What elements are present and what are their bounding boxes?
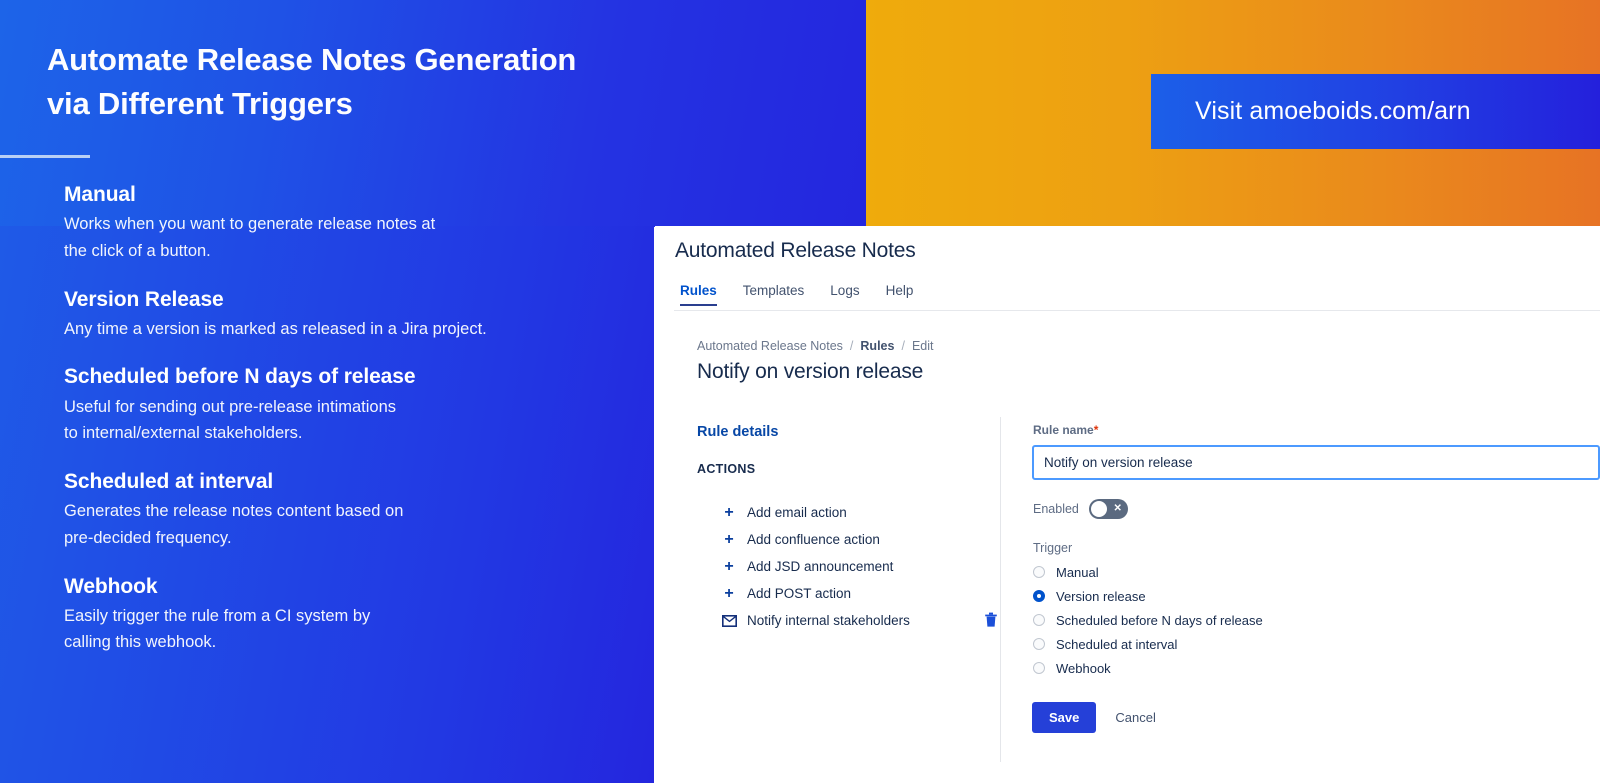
form-actions: Save Cancel <box>1032 702 1162 733</box>
radio-trigger-manual[interactable]: Manual <box>1033 560 1453 584</box>
tab-rules[interactable]: Rules <box>675 283 730 306</box>
rule-name-label-text: Rule name <box>1033 423 1094 437</box>
radio-icon <box>1033 638 1045 650</box>
tab-logs[interactable]: Logs <box>817 283 872 306</box>
list-item: Scheduled at interval Generates the rele… <box>64 468 654 552</box>
toggle-knob <box>1091 501 1107 517</box>
feature-title: Scheduled before N days of release <box>64 363 654 391</box>
rule-details-link[interactable]: Rule details <box>697 424 778 440</box>
action-label: Notify internal stakeholders <box>740 613 910 628</box>
action-label: Add email action <box>740 505 847 520</box>
enabled-toggle-row: Enabled ✕ <box>1033 499 1128 519</box>
plus-icon: + <box>718 586 740 602</box>
feature-description: Generates the release notes content base… <box>64 498 654 551</box>
breadcrumb-item-edit: Edit <box>912 339 934 353</box>
radio-label: Manual <box>1056 565 1099 580</box>
trigger-radio-group: Manual Version release Scheduled before … <box>1033 560 1453 680</box>
list-item[interactable]: + Add email action <box>718 499 1008 526</box>
rule-name-input[interactable] <box>1032 445 1600 480</box>
visit-website-badge[interactable]: Visit amoeboids.com/arn <box>1151 74 1600 149</box>
rule-page-title: Notify on version release <box>697 360 923 384</box>
delete-action-trash-icon[interactable] <box>984 612 998 628</box>
list-item: Webhook Easily trigger the rule from a C… <box>64 573 654 657</box>
radio-trigger-webhook[interactable]: Webhook <box>1033 656 1453 680</box>
breadcrumb-item-app[interactable]: Automated Release Notes <box>697 339 843 353</box>
action-label: Add POST action <box>740 586 851 601</box>
radio-trigger-scheduled-before-n-days[interactable]: Scheduled before N days of release <box>1033 608 1453 632</box>
radio-icon-selected <box>1033 590 1045 602</box>
slide-canvas: Automate Release Notes Generation via Di… <box>0 0 1600 783</box>
radio-label: Scheduled at interval <box>1056 637 1177 652</box>
plus-icon: + <box>718 532 740 548</box>
actions-heading: ACTIONS <box>697 462 755 476</box>
save-button[interactable]: Save <box>1032 702 1096 733</box>
enabled-toggle[interactable]: ✕ <box>1089 499 1128 519</box>
radio-label: Webhook <box>1056 661 1111 676</box>
radio-label: Scheduled before N days of release <box>1056 613 1263 628</box>
list-item: Manual Works when you want to generate r… <box>64 181 654 265</box>
trigger-feature-list: Manual Works when you want to generate r… <box>64 181 654 656</box>
rule-name-label: Rule name* <box>1033 423 1098 437</box>
feature-description: Useful for sending out pre-release intim… <box>64 394 654 447</box>
plus-icon: + <box>718 559 740 575</box>
list-item[interactable]: Notify internal stakeholders <box>718 607 1008 634</box>
breadcrumb-item-rules[interactable]: Rules <box>860 339 894 353</box>
title-underline-rule <box>0 155 90 158</box>
feature-title: Webhook <box>64 573 654 601</box>
action-label: Add JSD announcement <box>740 559 893 574</box>
feature-title: Manual <box>64 181 654 209</box>
radio-icon <box>1033 566 1045 578</box>
radio-label: Version release <box>1056 589 1146 604</box>
app-window: Automated Release Notes Rules Templates … <box>654 227 1600 783</box>
feature-description: Works when you want to generate release … <box>64 211 654 264</box>
actions-list: + Add email action + Add confluence acti… <box>718 499 1008 634</box>
list-item[interactable]: + Add POST action <box>718 580 1008 607</box>
feature-description: Any time a version is marked as released… <box>64 316 654 343</box>
list-item: Version Release Any time a version is ma… <box>64 286 654 343</box>
feature-description: Easily trigger the rule from a CI system… <box>64 603 654 656</box>
radio-trigger-version-release[interactable]: Version release <box>1033 584 1453 608</box>
close-icon: ✕ <box>1113 504 1121 514</box>
list-item[interactable]: + Add confluence action <box>718 526 1008 553</box>
envelope-icon <box>718 615 740 627</box>
list-item: Scheduled before N days of release Usefu… <box>64 363 654 447</box>
breadcrumb-separator: / <box>850 339 853 353</box>
feature-title: Version Release <box>64 286 654 314</box>
enabled-label: Enabled <box>1033 502 1079 516</box>
page-title: Automate Release Notes Generation via Di… <box>47 38 707 126</box>
cancel-button[interactable]: Cancel <box>1109 702 1161 733</box>
feature-title: Scheduled at interval <box>64 468 654 496</box>
breadcrumb-separator: / <box>901 339 904 353</box>
trigger-group-label: Trigger <box>1033 541 1072 555</box>
action-label: Add confluence action <box>740 532 880 547</box>
visit-website-label: Visit amoeboids.com/arn <box>1151 97 1471 126</box>
column-divider <box>1000 417 1001 762</box>
tab-bar: Rules Templates Logs Help <box>675 283 926 306</box>
plus-icon: + <box>718 505 740 521</box>
hero-section: Automate Release Notes Generation via Di… <box>0 0 660 783</box>
radio-icon <box>1033 662 1045 674</box>
list-item[interactable]: + Add JSD announcement <box>718 553 1008 580</box>
required-asterisk: * <box>1094 423 1099 437</box>
breadcrumb: Automated Release Notes / Rules / Edit <box>697 339 933 353</box>
tab-help[interactable]: Help <box>873 283 927 306</box>
tab-bar-divider <box>674 310 1600 311</box>
radio-icon <box>1033 614 1045 626</box>
radio-trigger-scheduled-at-interval[interactable]: Scheduled at interval <box>1033 632 1453 656</box>
tab-templates[interactable]: Templates <box>730 283 818 306</box>
app-title: Automated Release Notes <box>675 239 916 263</box>
